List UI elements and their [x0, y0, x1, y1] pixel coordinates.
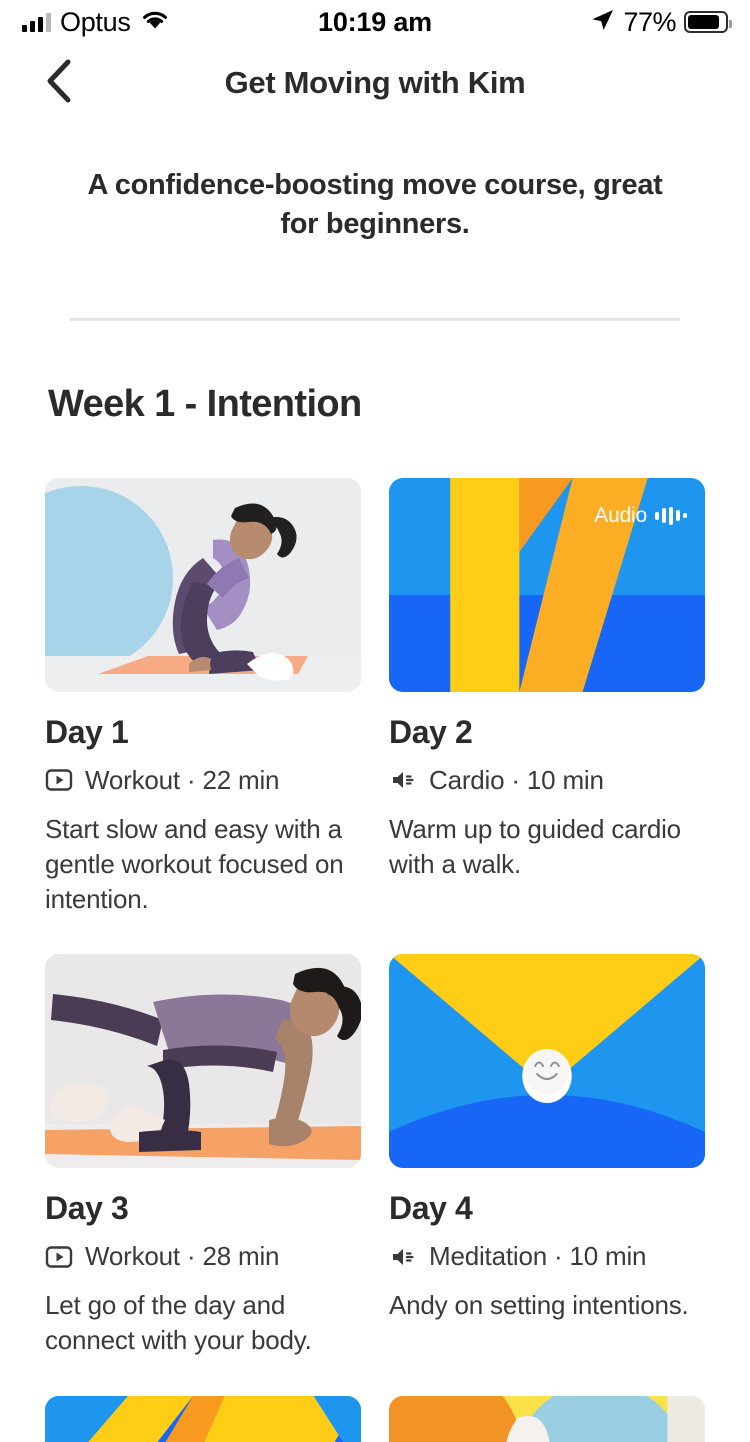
- card-meta: Workout · 22 min: [45, 765, 361, 796]
- status-bar-right: 77%: [589, 7, 728, 38]
- video-play-icon: [45, 766, 73, 794]
- card-description: Let go of the day and connect with your …: [45, 1288, 361, 1358]
- page-title: Get Moving with Kim: [0, 65, 750, 101]
- card-thumbnail[interactable]: [389, 1396, 705, 1442]
- card-thumbnail[interactable]: Audio: [389, 478, 705, 692]
- video-play-icon: [45, 1243, 73, 1271]
- card-meta-label: Workout · 22 min: [85, 765, 279, 796]
- photo-stretching-woman: [45, 478, 361, 692]
- card-meta-label: Meditation · 10 min: [429, 1241, 646, 1272]
- section-title: Week 1 - Intention: [0, 321, 750, 426]
- back-button[interactable]: [30, 54, 88, 112]
- meditation-sunrise-artwork: [389, 954, 705, 1168]
- card-meta: Workout · 28 min: [45, 1241, 361, 1272]
- speaker-audio-icon: [389, 766, 417, 794]
- nav-bar: Get Moving with Kim: [0, 44, 750, 122]
- card-description: Andy on setting intentions.: [389, 1288, 705, 1323]
- waveform-icon: [655, 507, 687, 525]
- location-arrow-icon: [589, 7, 615, 38]
- day-card[interactable]: Audio: [45, 1396, 361, 1442]
- card-thumbnail[interactable]: Audio: [45, 1396, 361, 1442]
- card-meta: Cardio · 10 min: [389, 765, 705, 796]
- status-bar: Optus 10:19 am 77%: [0, 0, 750, 44]
- day-card[interactable]: [389, 1396, 705, 1442]
- battery-percent-label: 77%: [623, 7, 676, 38]
- course-subtitle: A confidence-boosting move course, great…: [70, 166, 680, 245]
- photo-shoe-circles: [389, 1396, 705, 1442]
- course-header: A confidence-boosting move course, great…: [0, 122, 750, 321]
- card-thumbnail[interactable]: [45, 954, 361, 1168]
- day-card[interactable]: Day 3 Workout · 28 min Let go of the day…: [45, 954, 361, 1358]
- day-card[interactable]: Day 4 Meditation · 10 min Andy on settin…: [389, 954, 705, 1358]
- photo-plank-woman: [45, 954, 361, 1168]
- battery-icon: [684, 11, 728, 33]
- day-card[interactable]: Audio Day 2 Cardio · 10 min Warm up to g…: [389, 478, 705, 916]
- day-card-grid: Day 1 Workout · 22 min Start slow and ea…: [0, 426, 750, 1358]
- card-day-title: Day 1: [45, 714, 361, 751]
- day-card[interactable]: Day 1 Workout · 22 min Start slow and ea…: [45, 478, 361, 916]
- speaker-audio-icon: [389, 1243, 417, 1271]
- geometric-audio-artwork: [45, 1396, 361, 1442]
- card-meta-label: Workout · 28 min: [85, 1241, 279, 1272]
- card-thumbnail[interactable]: [45, 478, 361, 692]
- card-day-title: Day 3: [45, 1190, 361, 1227]
- card-meta-label: Cardio · 10 min: [429, 765, 604, 796]
- chevron-left-icon: [42, 58, 76, 109]
- audio-badge-label: Audio: [594, 504, 647, 528]
- card-thumbnail[interactable]: [389, 954, 705, 1168]
- day-card-grid-partial: Audio: [0, 1396, 750, 1442]
- card-day-title: Day 2: [389, 714, 705, 751]
- card-meta: Meditation · 10 min: [389, 1241, 705, 1272]
- card-day-title: Day 4: [389, 1190, 705, 1227]
- card-description: Warm up to guided cardio with a walk.: [389, 812, 705, 882]
- card-description: Start slow and easy with a gentle workou…: [45, 812, 361, 916]
- audio-badge: Audio: [594, 504, 687, 528]
